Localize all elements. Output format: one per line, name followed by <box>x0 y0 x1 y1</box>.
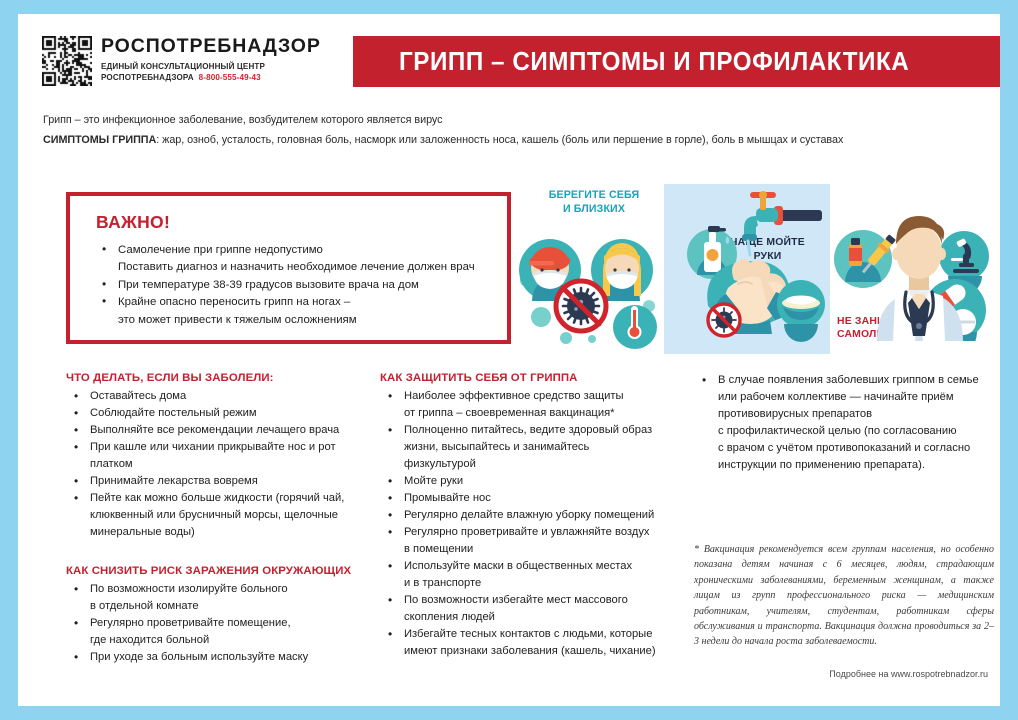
logo-subtitle-line1: ЕДИНЫЙ КОНСУЛЬТАЦИОННЫЙ ЦЕНТР <box>101 61 321 72</box>
antiviral-item: В случае появления заболевших гриппом в … <box>694 372 994 389</box>
reduce-item: По возможности изолируйте больного <box>66 581 366 598</box>
protect-item: Регулярно проветривайте и увлажняйте воз… <box>380 524 680 541</box>
logo-subtitle-text: РОСПОТРЕБНАДЗОРА <box>101 73 194 82</box>
important-item: Крайне опасно переносить грипп на ногах … <box>96 294 487 310</box>
reduce-item: где находится больной <box>66 632 366 649</box>
no-virus-icon <box>555 280 607 332</box>
antiviral-item: или рабочем коллективе — начинайте приём <box>694 389 994 406</box>
illustration-doctor: НЕ ЗАНИМАЙТЕСЬ САМОЛЕЧЕНИЕМ! <box>833 184 1003 354</box>
protect-item: Промывайте нос <box>380 490 680 507</box>
no-virus-icon-small <box>707 303 741 337</box>
sick-item: Пейте как можно больше жидкости (горячий… <box>66 490 366 507</box>
sick-item: Оставайтесь дома <box>66 388 366 405</box>
antiviral-item: противовирусных препаратов <box>694 406 994 423</box>
important-title: ВАЖНО! <box>96 212 487 233</box>
protect-item: в помещении <box>380 541 680 558</box>
antiviral-item: с профилактической целью (по согласовани… <box>694 423 994 440</box>
protect-item: Избегайте тесных контактов с людьми, кот… <box>380 626 680 643</box>
illustration-wash-hands: ЧАЩЕ МОЙТЕ РУКИ <box>664 184 830 354</box>
protect-item: физкультурой <box>380 456 680 473</box>
sick-item: платком <box>66 456 366 473</box>
antiviral-item: инструкции по применению препарата). <box>694 457 994 474</box>
sick-item: Принимайте лекарства вовремя <box>66 473 366 490</box>
protect-item: По возможности избегайте мест массового <box>380 592 680 609</box>
column-if-you-are-sick: ЧТО ДЕЛАТЬ, ЕСЛИ ВЫ ЗАБОЛЕЛИ: Оставайтес… <box>66 372 366 666</box>
protect-item: Мойте руки <box>380 473 680 490</box>
sick-item: клюквенный или брусничный морсы, щелочны… <box>66 507 366 524</box>
logo-text: РОСПОТРЕБНАДЗОР ЕДИНЫЙ КОНСУЛЬТАЦИОННЫЙ … <box>101 36 321 83</box>
illustration-protect-yourself: БЕРЕГИТЕ СЕБЯ И БЛИЗКИХ <box>518 184 663 354</box>
important-list: Самолечение при гриппе недопустимоПостав… <box>96 242 487 328</box>
logo-title: РОСПОТРЕБНАДЗОР <box>101 37 321 57</box>
section-heading-reduce: КАК СНИЗИТЬ РИСК ЗАРАЖЕНИЯ ОКРУЖАЮЩИХ <box>66 565 366 577</box>
important-item: Самолечение при гриппе недопустимо <box>96 242 487 258</box>
vaccination-footnote: * Вакцинация рекомендуется всем группам … <box>694 542 994 650</box>
protect-item: скопления людей <box>380 609 680 626</box>
protect-item: Используйте маски в общественных местах <box>380 558 680 575</box>
antiviral-item: с врачом с учётом противопоказаний и сог… <box>694 440 994 457</box>
protect-item: Полноценно питайтесь, ведите здоровый об… <box>380 422 680 439</box>
reduce-item: Регулярно проветривайте помещение, <box>66 615 366 632</box>
section-heading-sick: ЧТО ДЕЛАТЬ, ЕСЛИ ВЫ ЗАБОЛЕЛИ: <box>66 372 366 384</box>
sick-item: Выполняйте все рекомендации лечащего вра… <box>66 422 366 439</box>
protect-item: и в транспорте <box>380 575 680 592</box>
footer-website: Подробнее на www.rospotrebnadzor.ru <box>694 669 994 679</box>
important-callout-box: ВАЖНО! Самолечение при гриппе недопустим… <box>66 192 511 344</box>
protect-caption-line2: И БЛИЗКИХ <box>529 203 659 217</box>
doctor-graphic <box>833 196 1003 341</box>
sick-item: минеральные воды) <box>66 524 366 541</box>
sick-item: При кашле или чихании прикрывайте нос и … <box>66 439 366 456</box>
page-title: ГРИПП – СИМПТОМЫ И ПРОФИЛАКТИКА <box>399 46 909 77</box>
intro-text: Грипп – это инфекционное заболевание, во… <box>43 112 983 148</box>
reduce-item: в отдельной комнате <box>66 598 366 615</box>
protect-item: имеют признаки заболевания (кашель, чиха… <box>380 643 680 660</box>
protect-caption-line1: БЕРЕГИТЕ СЕБЯ <box>529 189 659 203</box>
protect-item: жизни, высыпайтесь и занимайтесь <box>380 439 680 456</box>
intro-line-1: Грипп – это инфекционное заболевание, во… <box>43 112 983 128</box>
rospotrebnadzor-logo: РОСПОТРЕБНАДЗОР ЕДИНЫЙ КОНСУЛЬТАЦИОННЫЙ … <box>42 36 321 86</box>
header: РОСПОТРЕБНАДЗОР ЕДИНЫЙ КОНСУЛЬТАЦИОННЫЙ … <box>18 14 1000 98</box>
sick-item: Соблюдайте постельный режим <box>66 405 366 422</box>
reduce-item: При уходе за больным используйте маску <box>66 649 366 666</box>
column-antiviral: В случае появления заболевших гриппом в … <box>694 372 994 474</box>
symptoms-text: : жар, озноб, усталость, головная боль, … <box>156 134 843 146</box>
important-item: это может привести к тяжелым осложнениям <box>96 312 487 328</box>
intro-line-2: СИМПТОМЫ ГРИППА: жар, озноб, усталость, … <box>43 132 983 148</box>
column-how-to-protect: КАК ЗАЩИТИТЬ СЕБЯ ОТ ГРИППА Наиболее эфф… <box>380 372 680 660</box>
list-antiviral: В случае появления заболевших гриппом в … <box>694 372 994 474</box>
faucet-icon <box>742 191 822 255</box>
list-reduce: По возможности изолируйте больногов отде… <box>66 581 366 666</box>
poster-page: РОСПОТРЕБНАДЗОР ЕДИНЫЙ КОНСУЛЬТАЦИОННЫЙ … <box>18 14 1000 706</box>
title-banner: ГРИПП – СИМПТОМЫ И ПРОФИЛАКТИКА <box>353 36 1000 87</box>
protect-caption: БЕРЕГИТЕ СЕБЯ И БЛИЗКИХ <box>529 189 659 216</box>
list-sick: Оставайтесь домаСоблюдайте постельный ре… <box>66 388 366 541</box>
hotline-phone: 8-800-555-49-43 <box>199 73 261 82</box>
section-heading-protect: КАК ЗАЩИТИТЬ СЕБЯ ОТ ГРИППА <box>380 372 680 384</box>
hand-washing-graphic <box>664 184 830 354</box>
qr-code-icon <box>42 36 92 86</box>
protect-item: Регулярно делайте влажную уборку помещен… <box>380 507 680 524</box>
protect-item: Наиболее эффективное средство защиты <box>380 388 680 405</box>
protect-item: от гриппа – своевременная вакцинация* <box>380 405 680 422</box>
logo-subtitle-line2: РОСПОТРЕБНАДЗОРА8-800-555-49-43 <box>101 72 321 83</box>
symptoms-label: СИМПТОМЫ ГРИППА <box>43 134 156 146</box>
list-protect: Наиболее эффективное средство защитыот г… <box>380 388 680 660</box>
people-masks-graphic <box>518 218 663 354</box>
important-item: При температуре 38-39 градусов вызовите … <box>96 277 487 293</box>
important-item: Поставить диагноз и назначить необходимо… <box>96 259 487 275</box>
